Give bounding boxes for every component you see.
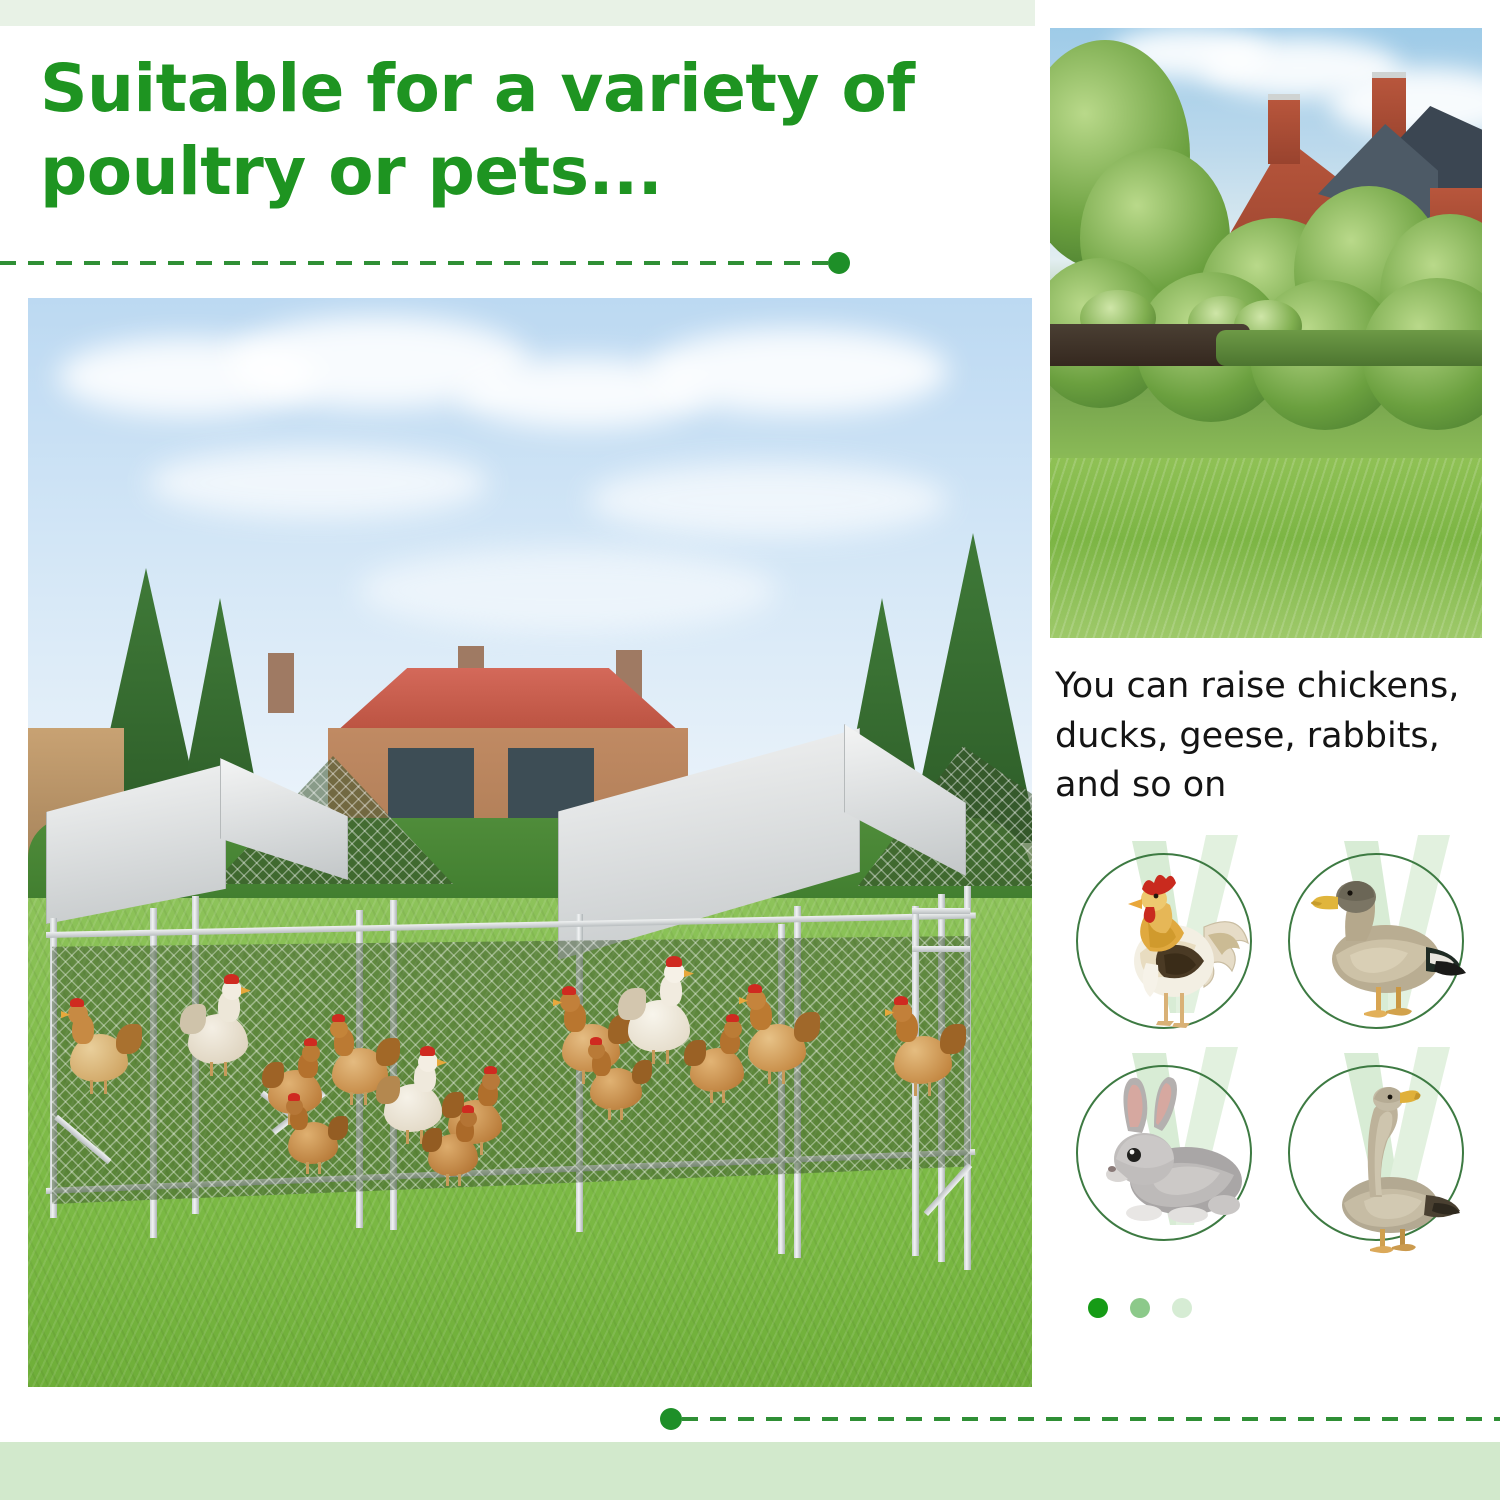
duck-icon	[1284, 843, 1484, 1043]
bottom-divider-line	[682, 1417, 1500, 1421]
chicken	[286, 1096, 346, 1174]
pagination-dot[interactable]	[1172, 1298, 1192, 1318]
top-divider	[0, 252, 860, 274]
hedge	[1216, 330, 1482, 366]
coop-door-header	[912, 946, 970, 952]
animal-cell-rabbit[interactable]	[1072, 1055, 1272, 1255]
animal-cell-duck[interactable]	[1284, 843, 1484, 1043]
bottom-divider-dot	[660, 1408, 682, 1430]
chicken-coop-structure	[38, 718, 998, 1348]
chimney	[268, 653, 294, 713]
pagination-dots[interactable]	[1088, 1298, 1192, 1318]
scenic-backyard-photo	[1050, 28, 1482, 638]
chicken	[744, 986, 818, 1086]
chicken	[66, 998, 138, 1094]
rooster-icon	[1072, 843, 1272, 1043]
goose-icon	[1284, 1055, 1484, 1255]
cloud	[358, 548, 778, 632]
animal-cell-chicken[interactable]	[1072, 843, 1272, 1043]
rabbit-icon	[1072, 1055, 1272, 1255]
hero-product-photo	[28, 298, 1032, 1387]
bottom-accent-band	[0, 1442, 1500, 1500]
cloud	[588, 463, 948, 537]
animal-icon-grid	[1062, 843, 1482, 1263]
coop-roof-panel	[46, 764, 226, 924]
bottom-divider	[660, 1408, 1500, 1430]
coop-rail	[46, 913, 976, 938]
animal-cell-goose[interactable]	[1284, 1055, 1484, 1255]
cloud	[148, 448, 488, 518]
pagination-dot-active[interactable]	[1088, 1298, 1108, 1318]
caption-text: You can raise chickens, ducks, geese, ra…	[1055, 662, 1485, 811]
chicken	[588, 1040, 650, 1120]
top-divider-line	[0, 261, 838, 265]
chicken	[184, 976, 260, 1076]
top-accent-band	[0, 0, 1035, 26]
chicken	[426, 1108, 486, 1186]
chicken	[890, 998, 964, 1098]
coop-door-header	[912, 908, 970, 914]
chimney	[1268, 94, 1300, 164]
cloud	[648, 328, 948, 414]
pagination-dot[interactable]	[1130, 1298, 1150, 1318]
page-title: Suitable for a variety of poultry or pet…	[40, 48, 1000, 213]
top-divider-dot	[828, 252, 850, 274]
lawn	[1050, 458, 1482, 638]
